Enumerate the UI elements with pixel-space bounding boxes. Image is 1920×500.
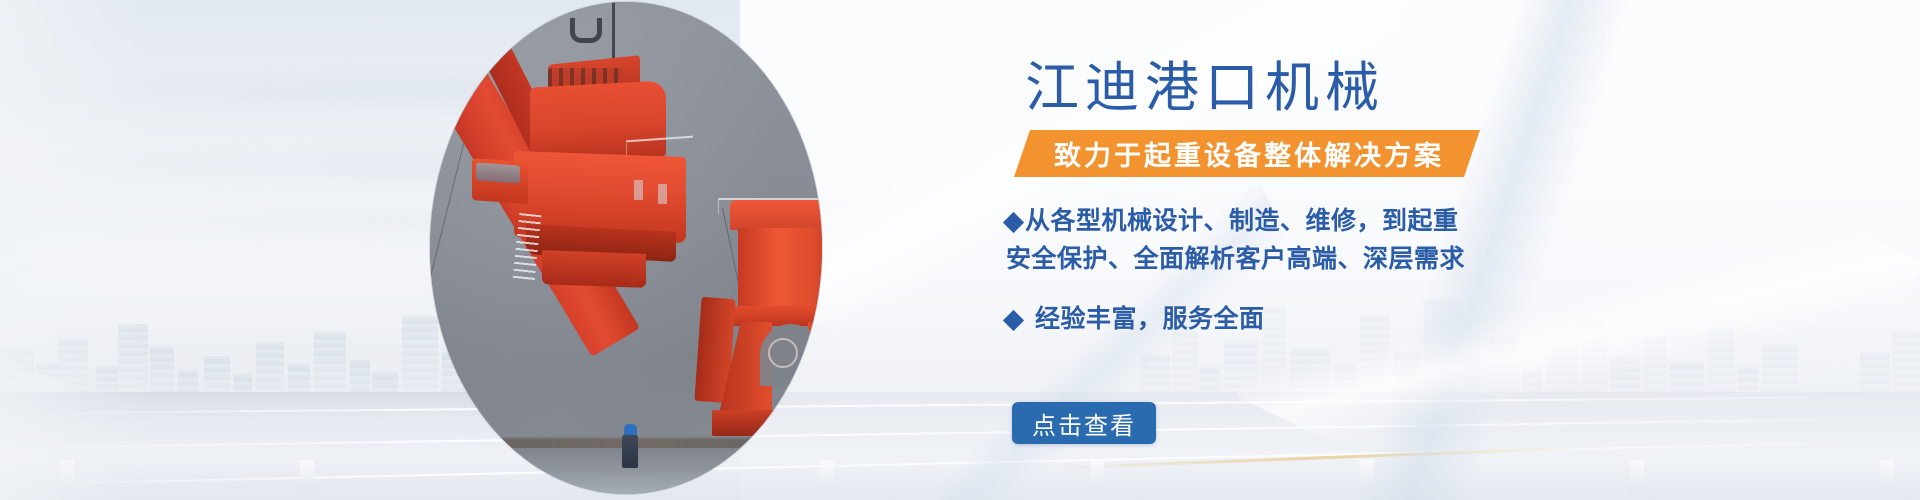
crane-photo (430, 2, 822, 494)
bullet-line: 经验丰富，服务全面 (1035, 305, 1265, 333)
hero-banner: 江迪港口机械 致力于起重设备整体解决方案 从各型机械设计、制造、维修，到起重 安… (0, 0, 1920, 500)
crane2-base (712, 410, 822, 436)
cta-button[interactable]: 点击查看 (1012, 402, 1156, 444)
bullet-line: 安全保护、全面解析客户高端、深层需求 (1006, 245, 1465, 273)
bullet-line: 从各型机械设计、制造、维修，到起重 (1025, 207, 1459, 235)
banner-content: 江迪港口机械 致力于起重设备整体解决方案 从各型机械设计、制造、维修，到起重 安… (1020, 0, 1880, 500)
crane2-emblem (768, 338, 798, 368)
crane2-platform (724, 306, 822, 326)
hook (570, 18, 602, 43)
feature-bullets: 从各型机械设计、制造、维修，到起重 安全保护、全面解析客户高端、深层需求 经验丰… (1006, 202, 1826, 338)
tagline-banner: 致力于起重设备整体解决方案 (1014, 130, 1480, 177)
crane2-column (738, 228, 822, 312)
page-title: 江迪港口机械 (1025, 60, 1385, 117)
diamond-bullet-icon (1003, 212, 1024, 233)
worker (622, 434, 638, 468)
bullet-item-1: 从各型机械设计、制造、维修，到起重 安全保护、全面解析客户高端、深层需求 (1006, 202, 1826, 278)
cab-glass (476, 162, 520, 183)
worker-helmet (624, 424, 637, 435)
bullet-item-2: 经验丰富，服务全面 (1006, 300, 1826, 338)
tagline-text: 致力于起重设备整体解决方案 (1014, 130, 1480, 177)
diamond-bullet-icon (1003, 310, 1024, 331)
crane-underframe (542, 250, 646, 288)
crane2-top (730, 200, 822, 230)
